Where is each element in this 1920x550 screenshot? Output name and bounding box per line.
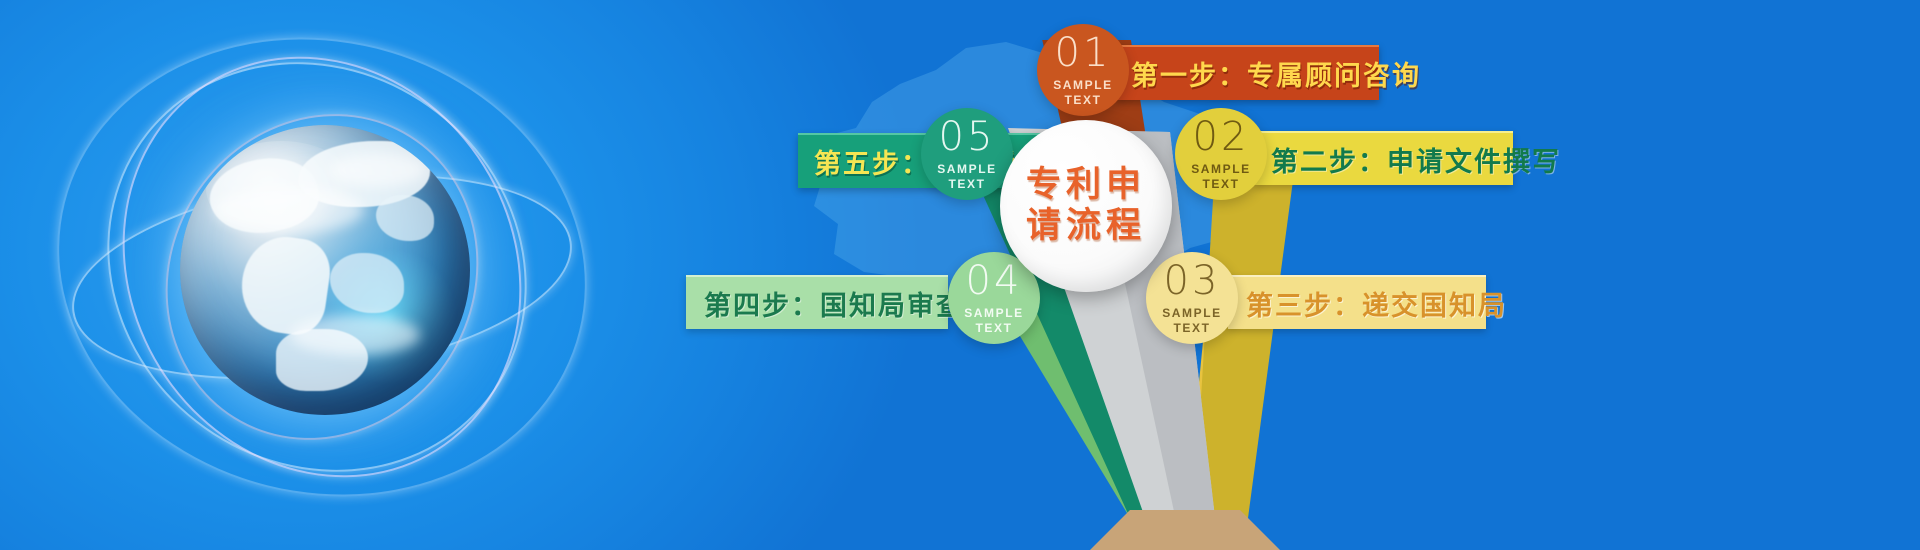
sample-line-1: SAMPLE <box>1191 162 1251 176</box>
sample-line-1: SAMPLE <box>937 162 997 176</box>
step-number: 03 <box>1164 261 1221 301</box>
step-badge-03[interactable]: 03 SAMPLE TEXT <box>1146 252 1238 344</box>
sample-line-1: SAMPLE <box>1162 306 1222 320</box>
step-label-text: 第一步：专属顾问咨询 <box>1131 54 1421 93</box>
step-badge-05[interactable]: 05 SAMPLE TEXT <box>921 108 1013 200</box>
step-label-03[interactable]: 第三步：递交国知局 <box>1228 275 1486 329</box>
step-sample-text: SAMPLE TEXT <box>1162 306 1222 336</box>
step-sample-text: SAMPLE TEXT <box>1053 78 1113 108</box>
step-label-02[interactable]: 第二步：申请文件撰写 <box>1255 131 1513 185</box>
sample-line-2: TEXT <box>1202 177 1239 191</box>
sample-line-2: TEXT <box>975 321 1012 335</box>
center-title-line-2: 请流程 <box>1026 206 1146 247</box>
step-label-04[interactable]: 第四步：国知局审查 <box>686 275 948 329</box>
step-number: 02 <box>1193 117 1250 157</box>
sample-line-1: SAMPLE <box>964 306 1024 320</box>
step-label-text: 第二步：申请文件撰写 <box>1271 140 1561 179</box>
step-sample-text: SAMPLE TEXT <box>937 162 997 192</box>
step-number: 04 <box>966 261 1023 301</box>
sample-line-2: TEXT <box>1064 93 1101 107</box>
step-sample-text: SAMPLE TEXT <box>964 306 1024 336</box>
step-label-text: 第三步：递交国知局 <box>1246 284 1507 323</box>
step-label-01[interactable]: 第一步：专属顾问咨询 <box>1117 45 1379 100</box>
step-number: 05 <box>939 117 996 157</box>
step-badge-02[interactable]: 02 SAMPLE TEXT <box>1175 108 1267 200</box>
globe-illustration <box>60 30 580 500</box>
step-number: 01 <box>1055 33 1112 73</box>
step-sample-text: SAMPLE TEXT <box>1191 162 1251 192</box>
sample-line-2: TEXT <box>948 177 985 191</box>
step-badge-01[interactable]: 01 SAMPLE TEXT <box>1037 24 1129 116</box>
sample-line-1: SAMPLE <box>1053 78 1113 92</box>
patent-process-banner: 第五步：获得授权证书 第四步：国知局审查 第一步：专属顾问咨询 第二步：申请文件… <box>0 0 1920 550</box>
cone-base <box>1090 510 1280 550</box>
step-label-text: 第四步：国知局审查 <box>704 284 965 323</box>
center-title-line-1: 专利申 <box>1026 165 1146 206</box>
center-title-disc: 专利申 请流程 <box>1000 120 1172 292</box>
sample-line-2: TEXT <box>1173 321 1210 335</box>
